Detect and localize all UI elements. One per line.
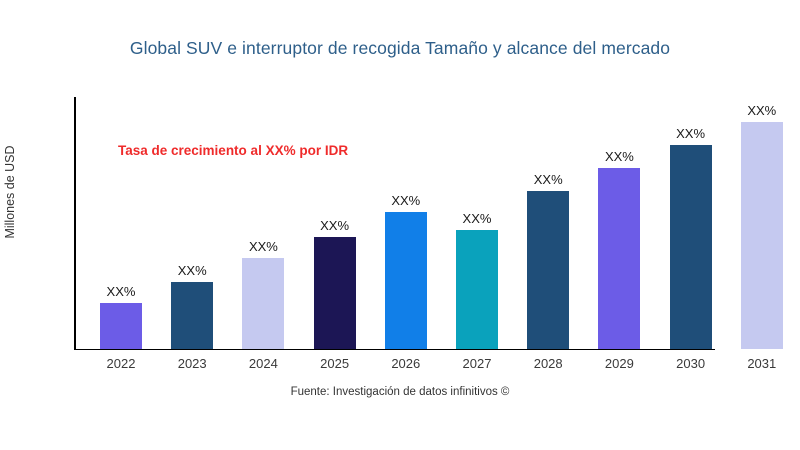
bar-group-2028: XX% (527, 97, 569, 349)
bar-group-2027: XX% (456, 97, 498, 349)
x-tick-label-2024: 2024 (223, 356, 303, 371)
bar-group-2026: XX% (385, 97, 427, 349)
bar-2027[interactable] (456, 230, 498, 349)
bar-value-label-2028: XX% (513, 172, 583, 187)
x-tick-label-2022: 2022 (81, 356, 161, 371)
x-tick-label-2028: 2028 (508, 356, 588, 371)
bar-2031[interactable] (741, 122, 783, 349)
bar-group-2031: XX% (741, 97, 783, 349)
bar-value-label-2022: XX% (86, 284, 156, 299)
bar-value-label-2030: XX% (656, 126, 726, 141)
bar-group-2022: XX% (100, 97, 142, 349)
bar-group-2024: XX% (242, 97, 284, 349)
bar-value-label-2031: XX% (727, 103, 797, 118)
bar-value-label-2023: XX% (157, 263, 227, 278)
source-note: Fuente: Investigación de datos infinitiv… (0, 386, 800, 398)
bar-2023[interactable] (171, 282, 213, 349)
x-tick-label-2030: 2030 (651, 356, 731, 371)
chart-title: Global SUV e interruptor de recogida Tam… (0, 38, 800, 59)
bar-value-label-2029: XX% (584, 149, 654, 164)
bar-value-label-2026: XX% (371, 193, 441, 208)
bar-2026[interactable] (385, 212, 427, 349)
y-axis-label: Millones de USD (3, 0, 17, 392)
bar-2022[interactable] (100, 303, 142, 349)
chart-figure: Global SUV e interruptor de recogida Tam… (0, 0, 800, 450)
bar-value-label-2025: XX% (300, 218, 370, 233)
bar-group-2025: XX% (314, 97, 356, 349)
bar-2029[interactable] (598, 168, 640, 349)
x-tick-label-2025: 2025 (295, 356, 375, 371)
bar-value-label-2024: XX% (228, 239, 298, 254)
bar-group-2030: XX% (670, 97, 712, 349)
x-tick-label-2031: 2031 (722, 356, 800, 371)
plot-area: XX%XX%XX%XX%XX%XX%XX%XX%XX%XX% (74, 97, 785, 349)
x-tick-label-2023: 2023 (152, 356, 232, 371)
x-tick-label-2026: 2026 (366, 356, 446, 371)
bar-2030[interactable] (670, 145, 712, 349)
bar-group-2029: XX% (598, 97, 640, 349)
bar-value-label-2027: XX% (442, 211, 512, 226)
x-tick-label-2027: 2027 (437, 356, 517, 371)
bar-2025[interactable] (314, 237, 356, 349)
bar-2024[interactable] (242, 258, 284, 349)
bar-group-2023: XX% (171, 97, 213, 349)
x-tick-label-2029: 2029 (579, 356, 659, 371)
bar-2028[interactable] (527, 191, 569, 349)
